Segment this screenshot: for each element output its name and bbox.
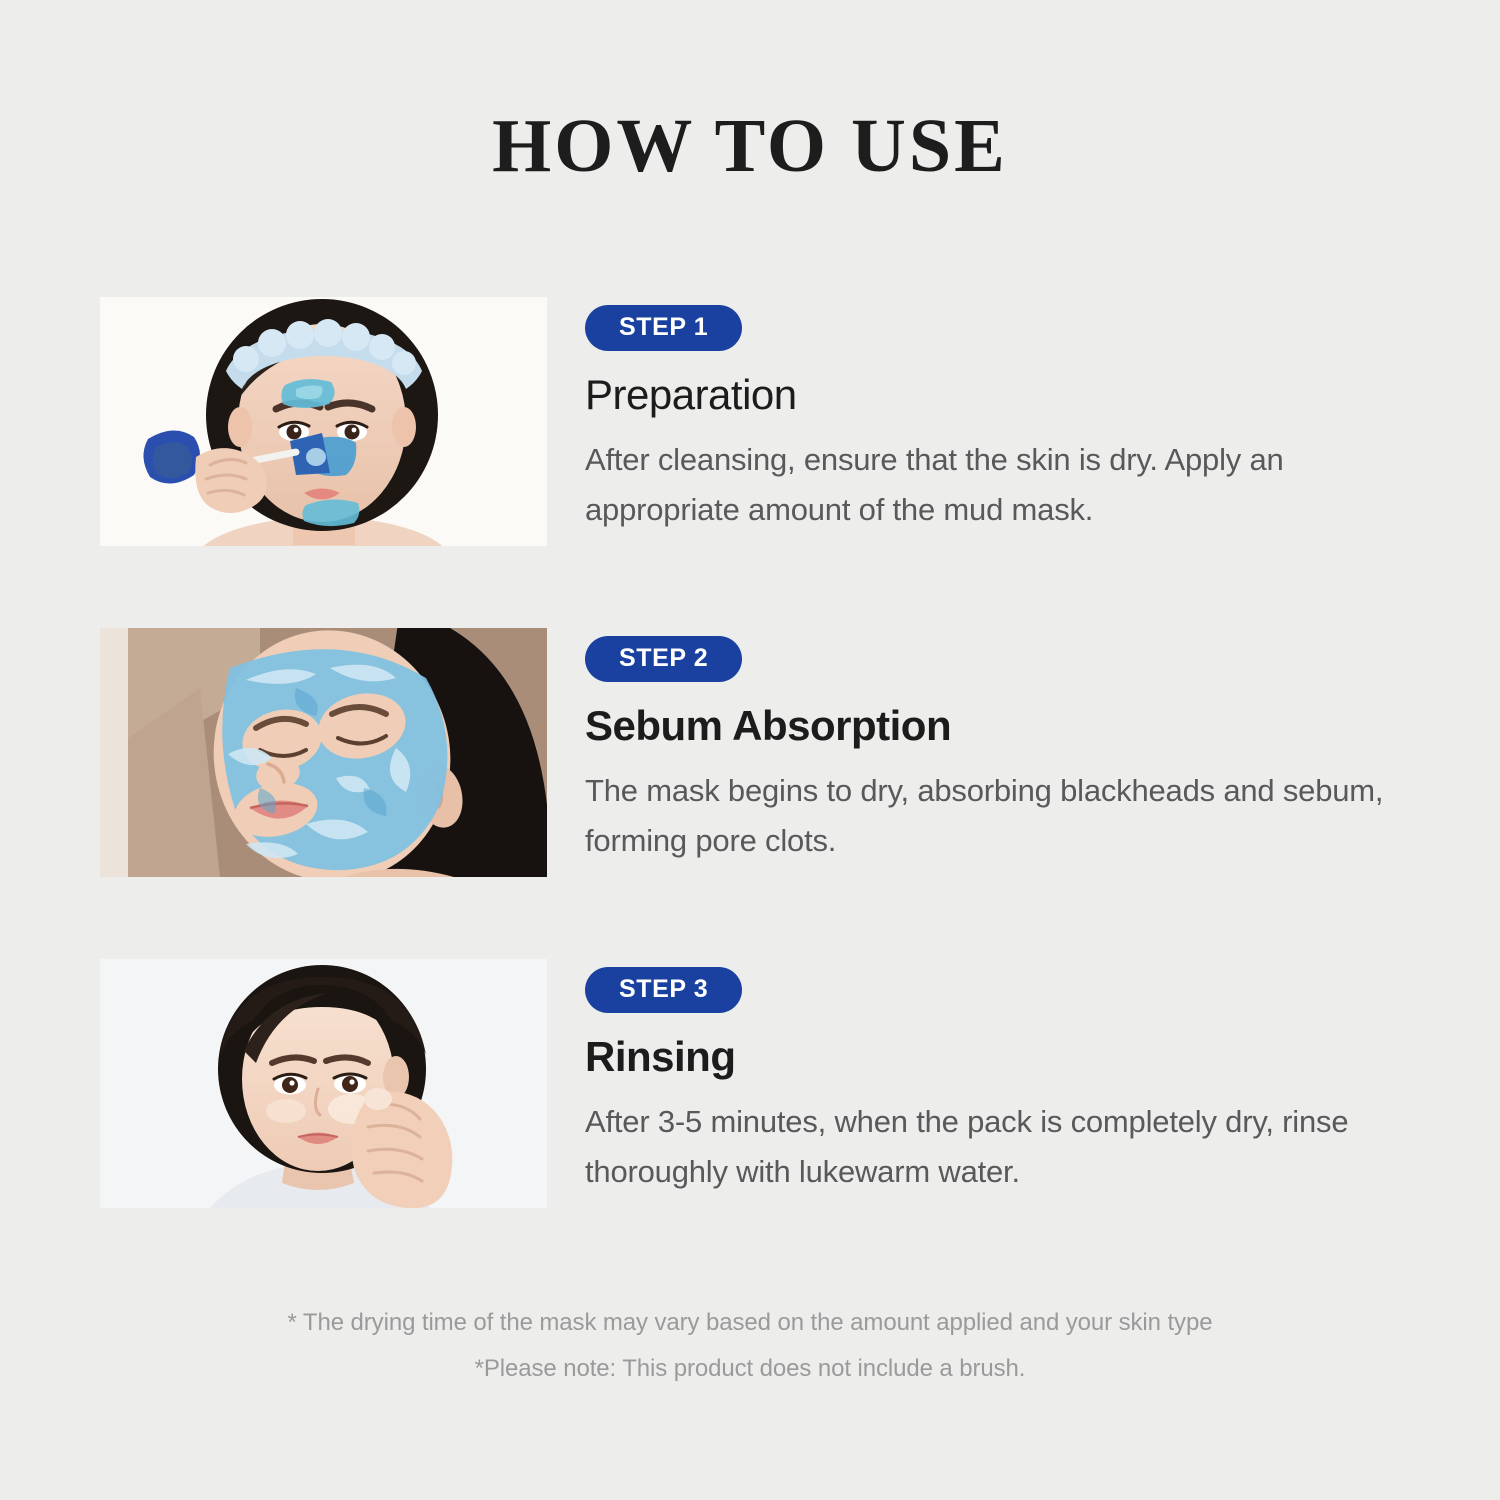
page-title: HOW TO USE [0,108,1500,184]
step-3-body: After 3-5 minutes, when the pack is comp… [585,1097,1420,1197]
step-1-illustration [100,297,547,546]
footnotes: * The drying time of the mask may vary b… [0,1300,1500,1391]
step-1-heading: Preparation [585,373,1420,417]
steps-list: STEP 1 Preparation After cleansing, ensu… [100,297,1420,1208]
step-1-image [100,297,547,546]
step-1-body: After cleansing, ensure that the skin is… [585,435,1420,535]
step-3-illustration [100,959,547,1208]
step-row: STEP 1 Preparation After cleansing, ensu… [100,297,1420,546]
step-1-text: STEP 1 Preparation After cleansing, ensu… [547,297,1420,536]
step-2-illustration [100,628,547,877]
step-row: STEP 2 Sebum Absorption The mask begins … [100,628,1420,877]
footnote-drying-time: * The drying time of the mask may vary b… [0,1300,1500,1346]
step-1-badge: STEP 1 [585,305,742,351]
step-3-image [100,959,547,1208]
step-row: STEP 3 Rinsing After 3-5 minutes, when t… [100,959,1420,1208]
footnote-no-brush: *Please note: This product does not incl… [0,1346,1500,1392]
step-2-image [100,628,547,877]
step-3-badge: STEP 3 [585,967,742,1013]
step-2-body: The mask begins to dry, absorbing blackh… [585,766,1420,866]
step-2-text: STEP 2 Sebum Absorption The mask begins … [547,628,1420,867]
step-3-text: STEP 3 Rinsing After 3-5 minutes, when t… [547,959,1420,1198]
how-to-use-page: HOW TO USE [0,0,1500,1500]
step-2-badge: STEP 2 [585,636,742,682]
step-3-heading: Rinsing [585,1035,1420,1079]
step-2-heading: Sebum Absorption [585,704,1420,748]
